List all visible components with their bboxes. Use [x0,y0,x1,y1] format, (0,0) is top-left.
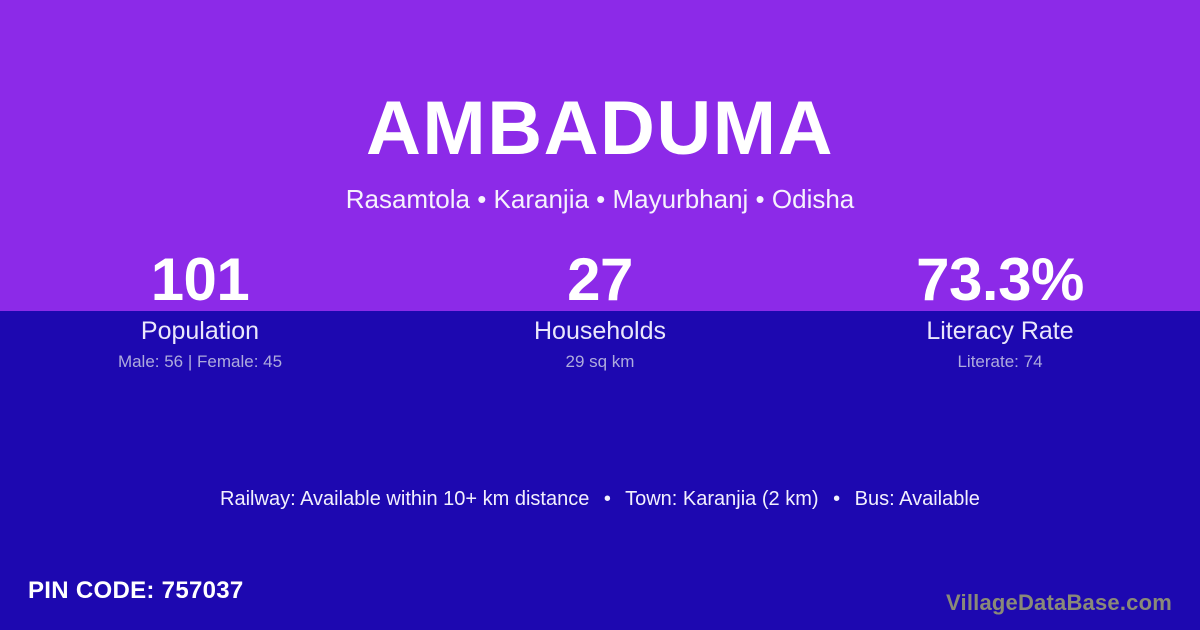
stat-households: 27 Households 29 sq km [400,248,800,388]
stat-label: Households [400,316,800,346]
infra-item-town: Town: Karanjia (2 km) [625,488,818,510]
stat-value: 101 [0,248,400,312]
infrastructure-line: Railway: Available within 10+ km distanc… [0,486,1200,512]
stats-row: 101 Population Male: 56 | Female: 45 27 … [0,248,1200,388]
stat-detail: 29 sq km [400,351,800,372]
infra-separator: • [824,488,849,510]
stat-detail: Literate: 74 [800,351,1200,372]
stat-value: 27 [400,248,800,312]
stat-population: 101 Population Male: 56 | Female: 45 [0,248,400,388]
stat-label: Population [0,316,400,346]
breadcrumb: Rasamtola • Karanjia • Mayurbhanj • Odis… [0,183,1200,215]
stat-detail: Male: 56 | Female: 45 [0,351,400,372]
infra-separator: • [595,488,620,510]
infra-item-railway: Railway: Available within 10+ km distanc… [220,488,589,510]
infra-item-bus: Bus: Available [855,488,980,510]
village-info-card: AMBADUMA Rasamtola • Karanjia • Mayurbha… [0,0,1200,630]
site-branding: VillageDataBase.com [946,589,1172,617]
stat-value: 73.3% [800,248,1200,312]
page-title: AMBADUMA [0,86,1200,172]
pin-code: PIN CODE: 757037 [28,576,244,606]
stat-label: Literacy Rate [800,316,1200,346]
stat-literacy-rate: 73.3% Literacy Rate Literate: 74 [800,248,1200,388]
